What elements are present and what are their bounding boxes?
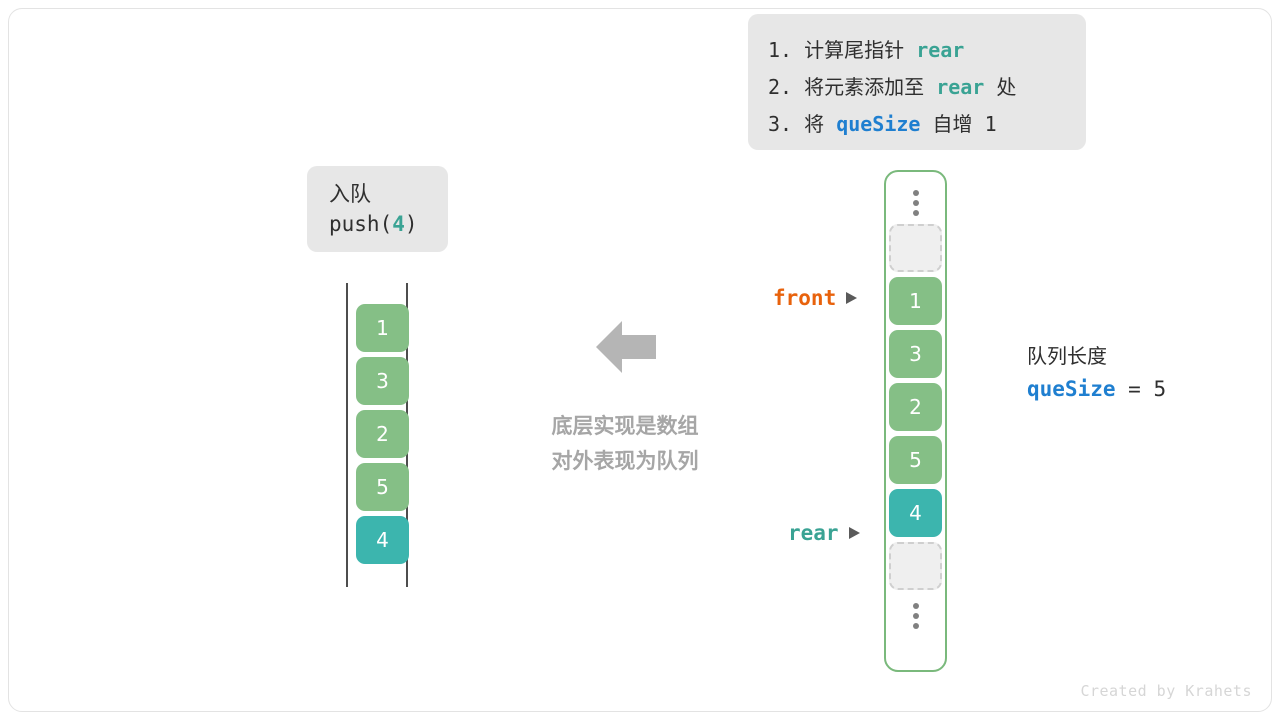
queue-size-expression: queSize = 5: [1027, 372, 1166, 406]
array-cell-empty: [889, 224, 942, 272]
right-array-view: 1 3 2 5 4: [884, 170, 947, 672]
arrow-left-icon: [596, 319, 656, 375]
step-text-pre-3: 将: [792, 112, 836, 136]
step-text-pre-2: 将元素添加至: [792, 75, 936, 99]
queue-cell: 4: [356, 516, 409, 564]
step-text-post-2: 处: [984, 75, 1016, 99]
watermark: Created by Krahets: [1080, 682, 1252, 700]
operation-call-value: 4: [392, 212, 405, 236]
steps-box: 1. 计算尾指针 rear 2. 将元素添加至 rear 处 3. 将 queS…: [748, 14, 1086, 150]
operation-call-prefix: push(: [329, 212, 392, 236]
array-cell: 4: [889, 489, 942, 537]
left-queue-cells: 1 3 2 5 4: [356, 304, 409, 569]
step-code-1: rear: [916, 38, 964, 62]
step-code-2: rear: [936, 75, 984, 99]
step-line-3: 3. 将 queSize 自增 1: [768, 106, 1066, 143]
array-cell: 5: [889, 436, 942, 484]
triangle-right-icon: [846, 292, 857, 304]
queue-size-var: queSize: [1027, 377, 1116, 401]
queue-cell: 2: [356, 410, 409, 458]
operation-label-box: 入队 push(4): [307, 166, 448, 252]
step-index-3: 3.: [768, 112, 792, 136]
operation-title: 入队: [329, 180, 448, 209]
caption-line-2: 对外表现为队列: [510, 444, 740, 479]
left-queue-view: 1 3 2 5 4: [340, 283, 416, 587]
front-pointer-label: front: [773, 286, 836, 310]
diagram-canvas: 1. 计算尾指针 rear 2. 将元素添加至 rear 处 3. 将 queS…: [0, 0, 1280, 720]
diagram-caption: 底层实现是数组 对外表现为队列: [510, 409, 740, 479]
step-line-1: 1. 计算尾指针 rear: [768, 32, 1066, 69]
step-text-pre-1: 计算尾指针: [792, 38, 916, 62]
array-cell-empty: [889, 542, 942, 590]
caption-line-1: 底层实现是数组: [510, 409, 740, 444]
queue-size-note: 队列长度 queSize = 5: [1027, 340, 1166, 406]
step-index-1: 1.: [768, 38, 792, 62]
queue-size-value: = 5: [1116, 377, 1167, 401]
vertical-ellipsis-icon: [913, 595, 919, 637]
rear-pointer-label: rear: [788, 521, 839, 545]
triangle-right-icon: [849, 527, 860, 539]
operation-call: push(4): [329, 209, 448, 240]
front-pointer: front: [773, 286, 857, 310]
operation-call-suffix: ): [405, 212, 418, 236]
step-index-2: 2.: [768, 75, 792, 99]
queue-cell: 5: [356, 463, 409, 511]
queue-cell: 3: [356, 357, 409, 405]
queue-size-title: 队列长度: [1027, 340, 1166, 372]
step-line-2: 2. 将元素添加至 rear 处: [768, 69, 1066, 106]
step-code-3: queSize: [836, 112, 920, 136]
rear-pointer: rear: [788, 521, 860, 545]
queue-cell: 1: [356, 304, 409, 352]
array-cell: 1: [889, 277, 942, 325]
vertical-ellipsis-icon: [913, 182, 919, 224]
step-text-post-3: 自增 1: [920, 112, 996, 136]
array-cell: 3: [889, 330, 942, 378]
queue-rail-left: [346, 283, 348, 587]
array-cell: 2: [889, 383, 942, 431]
